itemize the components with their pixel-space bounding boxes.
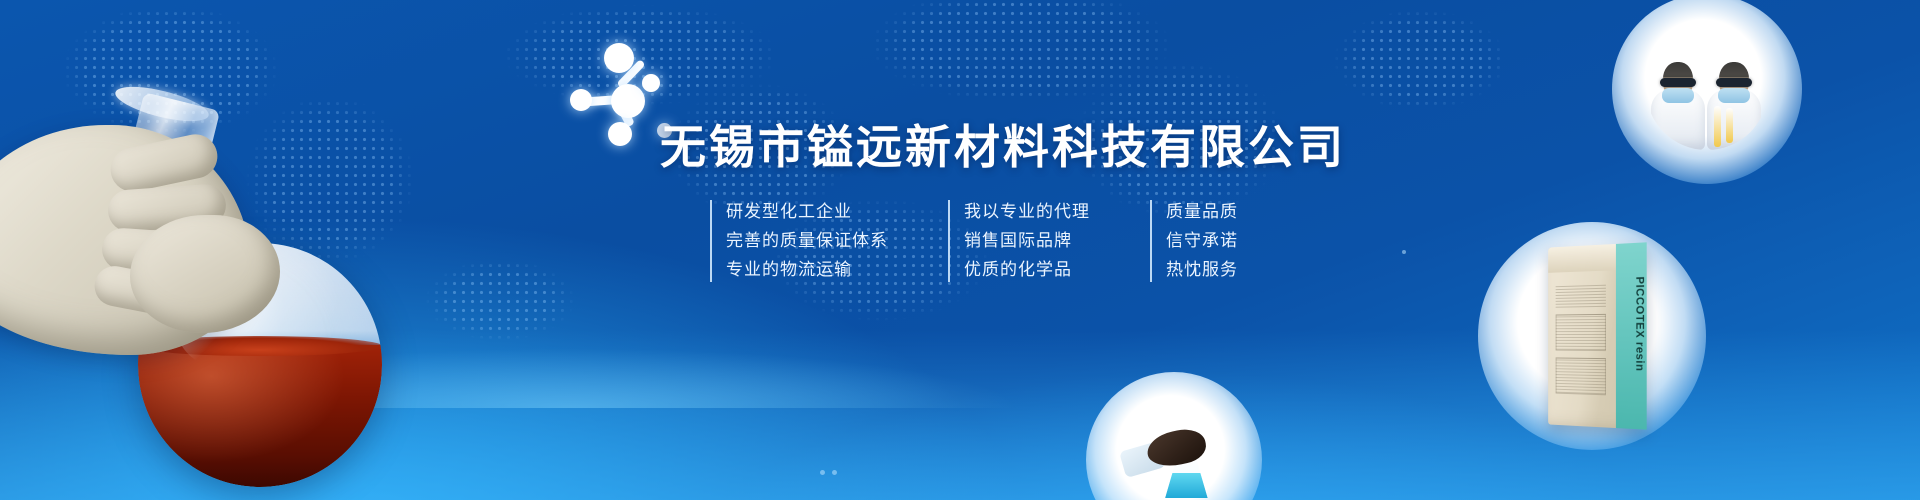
scientists-photo-badge: [1612, 0, 1802, 184]
flask-liquid-cyan: [1165, 473, 1208, 499]
face-mask-icon: [1662, 88, 1694, 103]
bag-print-panel: [1556, 314, 1606, 351]
flask-liquid: [138, 345, 382, 487]
tagline-line: 完善的质量保证体系: [726, 229, 888, 253]
decor-dot: [832, 470, 837, 475]
page-title: 无锡市镒远新材料科技有限公司: [660, 111, 1346, 177]
resin-bag: PICCOTEX resin: [1549, 242, 1648, 430]
badge-image: [1646, 28, 1768, 150]
safety-goggles-icon: [1716, 78, 1752, 87]
gloved-hand-flask-illustration: [0, 95, 460, 500]
tagline-line: 研发型化工企业: [726, 200, 888, 224]
tagline-column-3: 质量品质 信守承诺 热忱服务: [1150, 200, 1238, 282]
tagline-columns: 研发型化工企业 完善的质量保证体系 专业的物流运输 我以专业的代理 销售国际品牌…: [710, 200, 1238, 282]
tagline-column-2: 我以专业的代理 销售国际品牌 优质的化学品: [948, 200, 1090, 282]
bag-print-text: [1556, 285, 1606, 308]
decor-dot: [820, 470, 825, 475]
face-mask-icon: [1718, 88, 1750, 103]
tagline-line: 专业的物流运输: [726, 258, 888, 282]
test-tube-icon: [1726, 108, 1733, 142]
molecule-icon: [556, 30, 676, 140]
decor-dot: [1402, 250, 1406, 254]
test-tube-icon: [1714, 106, 1721, 147]
tagline-line: 优质的化学品: [964, 258, 1090, 282]
safety-goggles-icon: [1660, 78, 1696, 87]
tagline-line: 我以专业的代理: [964, 200, 1090, 224]
resin-bag-photo-badge: PICCOTEX resin: [1478, 222, 1706, 450]
bag-brand-text: PICCOTEX resin: [1634, 276, 1646, 371]
tagline-line: 销售国际品牌: [964, 229, 1090, 253]
scientist-figure: [1651, 60, 1705, 150]
tagline-line: 质量品质: [1166, 200, 1238, 224]
tagline-line: 热忱服务: [1166, 258, 1238, 282]
tagline-column-1: 研发型化工企业 完善的质量保证体系 专业的物流运输: [710, 200, 888, 282]
bag-brand-stripe: PICCOTEX resin: [1617, 242, 1648, 430]
tagline-line: 信守承诺: [1166, 229, 1238, 253]
bag-print-panel: [1556, 357, 1606, 394]
company-banner: 无锡市镒远新材料科技有限公司 研发型化工企业 完善的质量保证体系 专业的物流运输…: [0, 0, 1920, 500]
